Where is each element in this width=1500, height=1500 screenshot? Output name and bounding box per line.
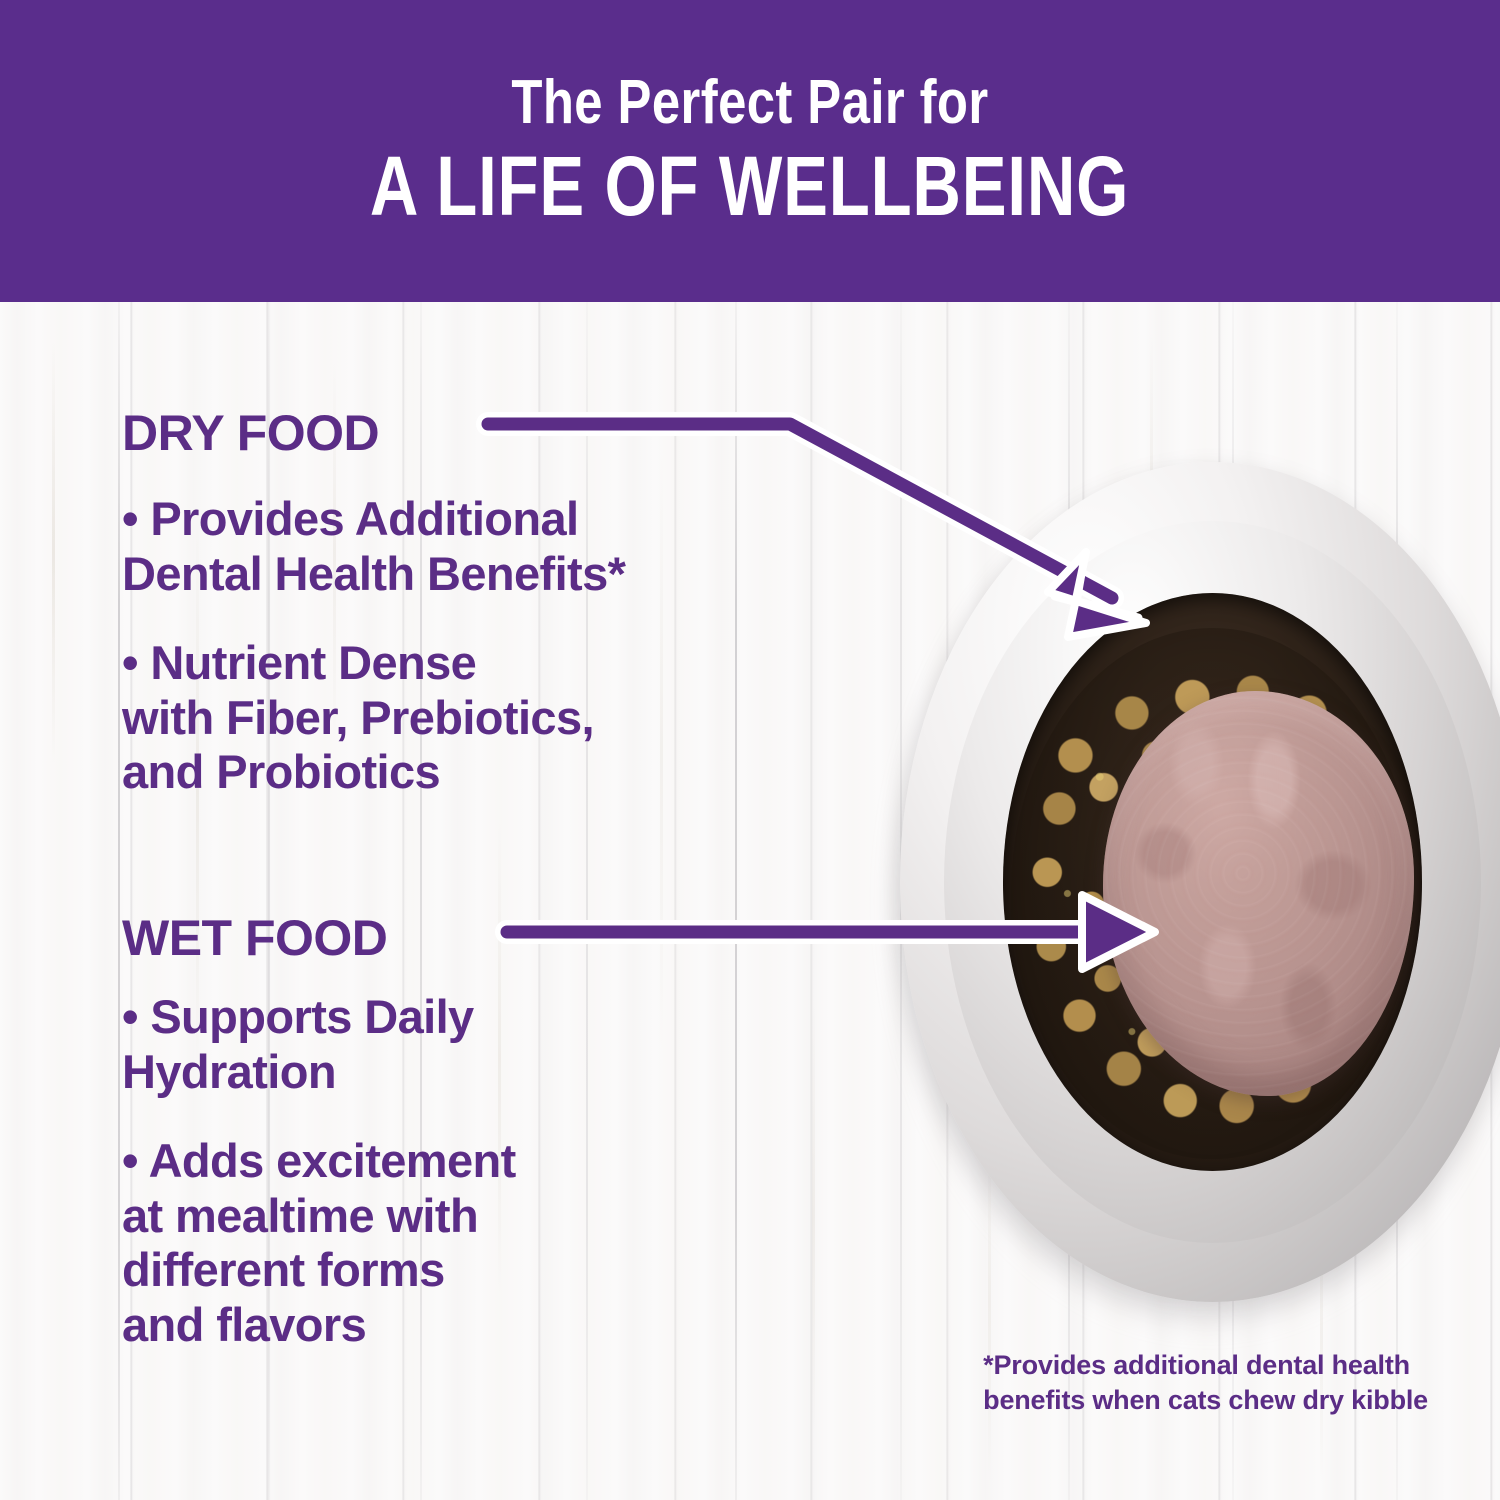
bullet-dry-1: • Provides Additional Dental Health Bene… [122, 492, 625, 601]
bullet-wet-2-line-1: • Adds excitement [122, 1134, 516, 1189]
header-subtitle: The Perfect Pair for [511, 70, 988, 135]
footnote-line-2: benefits when cats chew dry kibble [983, 1383, 1428, 1418]
bullet-dry-2-line-3: and Probiotics [122, 745, 594, 800]
footnote: *Provides additional dental health benef… [983, 1348, 1428, 1417]
product-infographic: The Perfect Pair for A LIFE OF WELLBEING… [0, 0, 1500, 1500]
header-banner: The Perfect Pair for A LIFE OF WELLBEING [0, 0, 1500, 302]
bullet-wet-2-line-2: at mealtime with [122, 1189, 516, 1244]
bullet-dry-2-line-1: • Nutrient Dense [122, 636, 594, 691]
bowl-rim-inner [944, 521, 1482, 1243]
section-title-dry-food: DRY FOOD [122, 404, 379, 462]
section-title-wet-food: WET FOOD [122, 909, 387, 967]
pet-food-bowl-photo [880, 440, 1500, 1320]
bullet-wet-1: • Supports Daily Hydration [122, 990, 474, 1099]
bullet-wet-2: • Adds excitement at mealtime with diffe… [122, 1134, 516, 1352]
bullet-dry-2-line-2: with Fiber, Prebiotics, [122, 691, 594, 746]
bullet-wet-2-line-4: and flavors [122, 1298, 516, 1353]
bullet-dry-1-line-1: • Provides Additional [122, 492, 625, 547]
bullet-dry-2: • Nutrient Dense with Fiber, Prebiotics,… [122, 636, 594, 800]
bullet-wet-2-line-3: different forms [122, 1243, 516, 1298]
wet-pate [1103, 691, 1413, 1096]
bowl-rim [900, 462, 1500, 1302]
bullet-dry-1-line-2: Dental Health Benefits* [122, 547, 625, 602]
bullet-wet-1-line-2: Hydration [122, 1045, 474, 1100]
bowl-interior [1003, 593, 1422, 1171]
footnote-line-1: *Provides additional dental health [983, 1348, 1428, 1383]
benefits-text-column: DRY FOOD • Provides Additional Dental He… [0, 302, 880, 1500]
header-title: A LIFE OF WELLBEING [370, 141, 1129, 232]
bullet-wet-1-line-1: • Supports Daily [122, 990, 474, 1045]
